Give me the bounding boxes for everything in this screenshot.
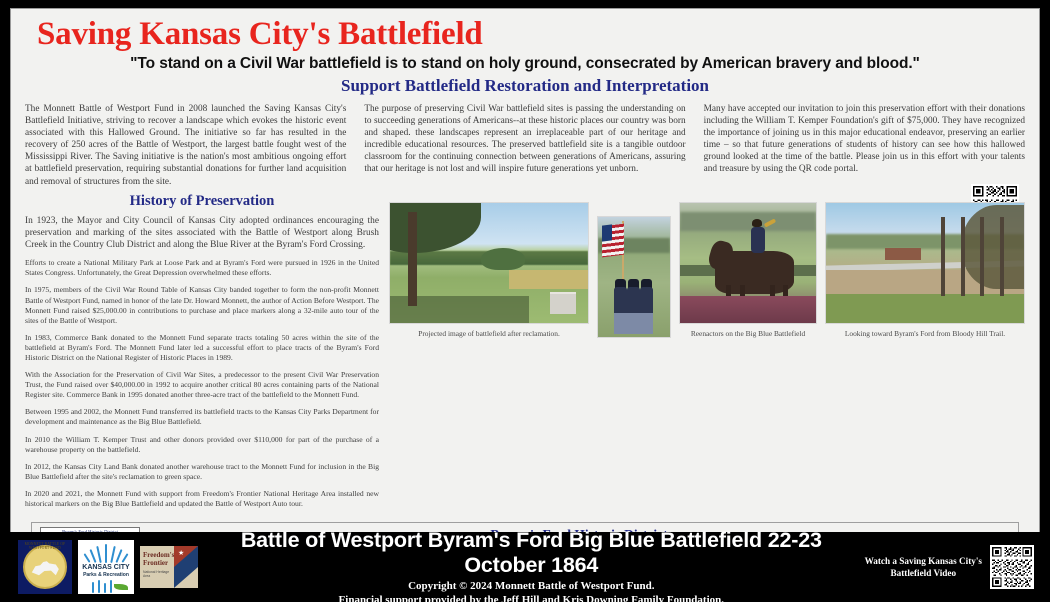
battlefield-landscape-photo xyxy=(389,202,589,324)
history-column: History of Preservation In 1923, the May… xyxy=(25,190,379,516)
poster-sheet: Saving Kansas City's Battlefield "To sta… xyxy=(10,8,1040,533)
footer-center: Battle of Westport Byram's Ford Big Blue… xyxy=(198,528,865,602)
bugler-on-horse-photo xyxy=(679,202,817,324)
history-paragraph: In 2020 and 2021, the Monnett Fund with … xyxy=(25,489,379,509)
poster-root: Saving Kansas City's Battlefield "To sta… xyxy=(0,0,1050,602)
history-heading: History of Preservation xyxy=(25,193,379,210)
footer-title: Battle of Westport Byram's Ford Big Blue… xyxy=(204,528,859,578)
history-paragraph: In 1923, the Mayor and City Council of K… xyxy=(25,215,379,252)
support-heading: Support Battlefield Restoration and Inte… xyxy=(25,76,1025,96)
photo-item: Reenactors on the Big Blue Battlefield xyxy=(679,202,817,338)
history-paragraph: In 2010 the William T. Kemper Trust and … xyxy=(25,435,379,455)
intro-columns: The Monnett Battle of Westport Fund in 2… xyxy=(25,103,1025,188)
photo-item: Looking toward Byram's Ford from Bloody … xyxy=(825,202,1025,338)
intro-paragraph-2: The purpose of preserving Civil War batt… xyxy=(364,103,685,188)
photo-caption: Reenactors on the Big Blue Battlefield xyxy=(679,329,817,338)
photo-caption: Projected image of battlefield after rec… xyxy=(389,329,589,338)
footer-video-qr[interactable]: Watch a Saving Kansas City's Battlefield… xyxy=(865,545,1050,589)
freedoms-frontier-logo-icon: Freedom'sFrontier National Heritage Area… xyxy=(140,546,198,588)
history-paragraph: In 1983, Commerce Bank donated to the Mo… xyxy=(25,333,379,363)
ff-line1: Freedom's xyxy=(143,551,174,559)
footer-copyright: Copyright © 2024 Monnett Battle of Westp… xyxy=(204,580,859,592)
ff-line3: National Heritage Area xyxy=(143,570,174,578)
mid-section: History of Preservation In 1923, the May… xyxy=(25,190,1025,516)
watch-line-2: Battlefield Video xyxy=(890,568,956,578)
history-paragraph: In 1975, members of the Civil War Round … xyxy=(25,285,379,325)
watch-video-label: Watch a Saving Kansas City's Battlefield… xyxy=(865,555,982,579)
media-column: QR Code Portal xyxy=(379,190,1025,516)
history-paragraph: Between 1995 and 2002, the Monnett Fund … xyxy=(25,407,379,427)
seal-label: MONNETT BATTLE OF WESTPORT FUND xyxy=(18,542,72,550)
watch-line-1: Watch a Saving Kansas City's xyxy=(865,556,982,566)
photo-item xyxy=(597,216,671,338)
poster-subtitle-quote: "To stand on a Civil War battlefield is … xyxy=(25,55,1025,73)
photo-row: Projected image of battlefield after rec… xyxy=(387,202,1025,338)
footer-financial-support: Financial support provided by the Jeff H… xyxy=(204,594,859,602)
page-title: Saving Kansas City's Battlefield xyxy=(37,15,1025,53)
reenactors-photo xyxy=(597,216,671,338)
poster-footer: MONNETT BATTLE OF WESTPORT FUND KANSAS C… xyxy=(0,532,1050,602)
history-paragraph: Efforts to create a National Military Pa… xyxy=(25,258,379,278)
monnett-fund-seal-icon: MONNETT BATTLE OF WESTPORT FUND xyxy=(18,540,72,594)
ff-line2: Frontier xyxy=(143,559,168,567)
kc-logo-line2: Parks & Recreation xyxy=(78,572,134,578)
intro-paragraph-3: Many have accepted our invitation to joi… xyxy=(704,103,1025,188)
intro-paragraph-1: The Monnett Battle of Westport Fund in 2… xyxy=(25,103,346,188)
kansas-city-parks-logo-icon: KANSAS CITY Parks & Recreation xyxy=(78,540,134,594)
byrams-ford-view-photo xyxy=(825,202,1025,324)
photo-caption: Looking toward Byram's Ford from Bloody … xyxy=(825,329,1025,338)
photo-item: Projected image of battlefield after rec… xyxy=(389,202,589,338)
video-qr-code-icon[interactable] xyxy=(990,545,1034,589)
history-body: In 1923, the Mayor and City Council of K… xyxy=(25,215,379,509)
footer-logos: MONNETT BATTLE OF WESTPORT FUND KANSAS C… xyxy=(0,540,198,594)
history-paragraph: In 2012, the Kansas City Land Bank donat… xyxy=(25,462,379,482)
kc-logo-line1: KANSAS CITY xyxy=(78,564,134,571)
history-paragraph: With the Association for the Preservatio… xyxy=(25,370,379,400)
